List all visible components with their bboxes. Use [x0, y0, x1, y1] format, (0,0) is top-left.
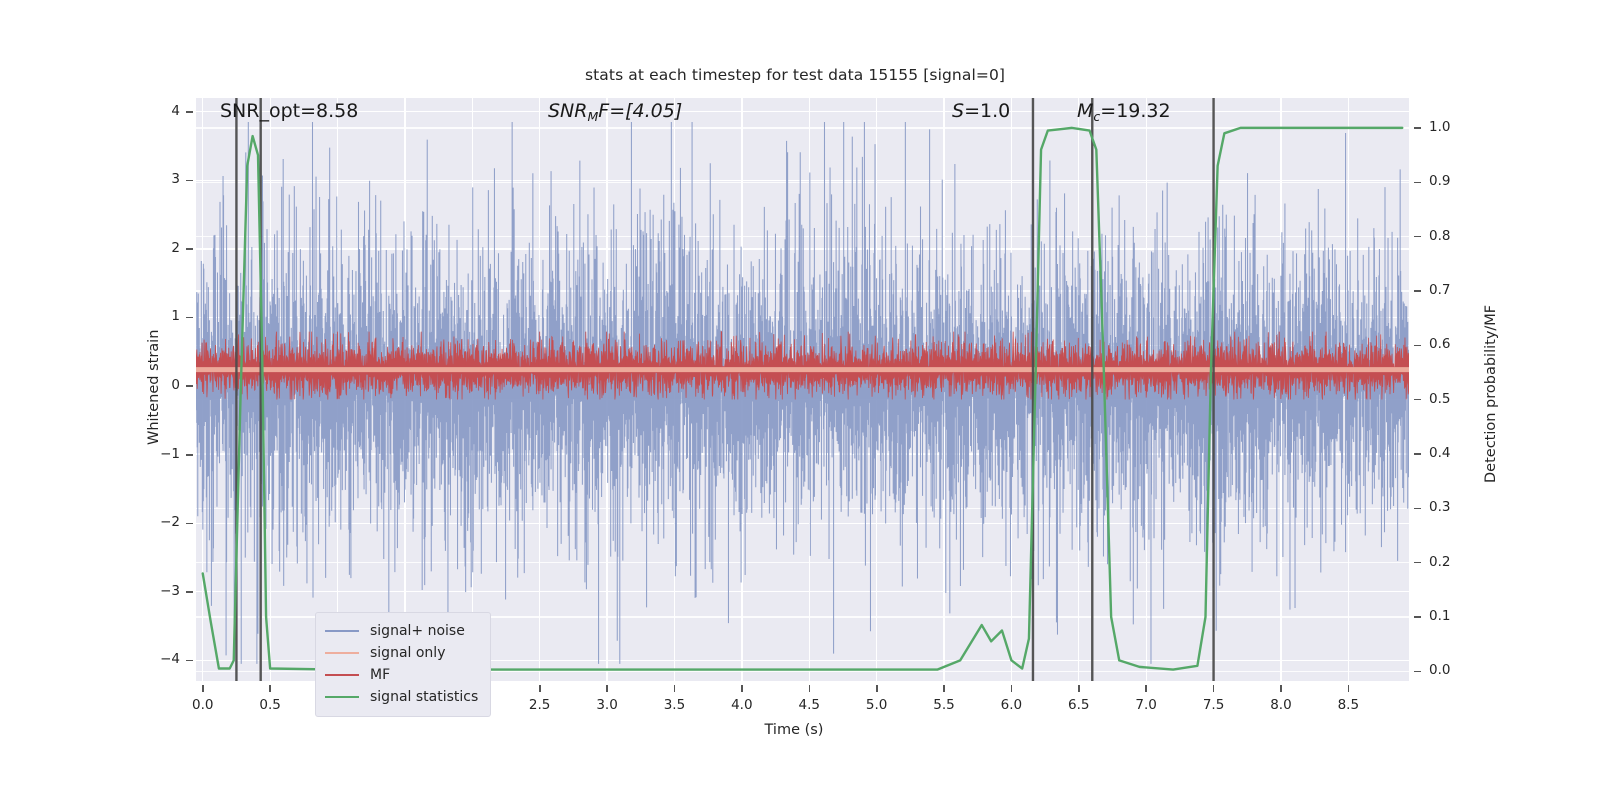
- x-tick-mark: [539, 685, 541, 692]
- y-tick-mark-left: [186, 591, 193, 593]
- y-tick-label-left: 3: [144, 171, 180, 187]
- legend-swatch-icon: [325, 630, 359, 632]
- plot-area: [196, 98, 1409, 681]
- x-tick-label: 6.0: [997, 697, 1025, 713]
- annotation-snr-mf-sub: M: [587, 109, 598, 124]
- x-tick-mark: [876, 685, 878, 692]
- y-tick-label-right: 0.8: [1429, 228, 1450, 244]
- y-tick-label-right: 0.4: [1429, 445, 1450, 461]
- legend-item[interactable]: signal+ noise: [325, 620, 481, 642]
- x-tick-mark: [202, 685, 204, 692]
- legend: signal+ noisesignal onlyMFsignal statist…: [315, 612, 491, 717]
- y-tick-label-right: 0.6: [1429, 336, 1450, 352]
- annotation-s-number: =1.0: [964, 100, 1010, 122]
- figure-canvas: stats at each timestep for test data 151…: [0, 0, 1600, 800]
- x-axis-label: Time (s): [765, 722, 824, 738]
- legend-swatch-icon: [325, 674, 359, 676]
- legend-item[interactable]: MF: [325, 664, 481, 686]
- x-tick-mark: [1213, 685, 1215, 692]
- annotation-mc-sub: c: [1093, 109, 1100, 124]
- y-tick-mark-left: [186, 317, 193, 319]
- y-tick-mark-right: [1414, 671, 1421, 673]
- x-tick-label: 3.5: [660, 697, 688, 713]
- x-tick-mark: [943, 685, 945, 692]
- y-tick-label-right: 0.7: [1429, 282, 1450, 298]
- x-tick-mark: [1348, 685, 1350, 692]
- x-tick-mark: [1145, 685, 1147, 692]
- legend-item-label: signal statistics: [370, 689, 478, 705]
- y-tick-mark-right: [1414, 127, 1421, 129]
- x-tick-label: 7.5: [1200, 697, 1228, 713]
- x-tick-label: 8.0: [1267, 697, 1295, 713]
- y-tick-label-right: 0.9: [1429, 173, 1450, 189]
- y-axis-right-label: Detection probability/MF: [1483, 304, 1499, 482]
- x-tick-label: 2.5: [526, 697, 554, 713]
- y-tick-label-left: −1: [144, 446, 180, 462]
- x-tick-mark: [269, 685, 271, 692]
- y-tick-label-left: 1: [144, 308, 180, 324]
- x-tick-mark: [741, 685, 743, 692]
- y-tick-mark-right: [1414, 616, 1421, 618]
- annotation-mc-number: =19.32: [1100, 100, 1170, 122]
- x-tick-mark: [606, 685, 608, 692]
- legend-item-label: signal only: [370, 645, 445, 661]
- legend-swatch-icon: [325, 696, 359, 698]
- legend-item-label: signal+ noise: [370, 623, 465, 639]
- y-tick-mark-right: [1414, 236, 1421, 238]
- x-tick-mark: [1011, 685, 1013, 692]
- y-tick-mark-left: [186, 454, 193, 456]
- y-tick-label-left: −3: [144, 583, 180, 599]
- y-tick-label-left: 2: [144, 240, 180, 256]
- annotation-chirp-mass: Mc=19.32: [1077, 102, 1171, 121]
- y-tick-label-left: 4: [144, 103, 180, 119]
- y-tick-label-right: 0.2: [1429, 554, 1450, 570]
- y-tick-label-right: 0.1: [1429, 608, 1450, 624]
- x-tick-mark: [1280, 685, 1282, 692]
- chart-title-text: stats at each timestep for test data 151…: [585, 66, 1005, 84]
- series-signal-statistics: [196, 98, 1409, 681]
- y-tick-mark-right: [1414, 290, 1421, 292]
- annotation-snr-mf: SNRMF=[4.05]: [548, 102, 682, 121]
- legend-item[interactable]: signal only: [325, 642, 481, 664]
- y-tick-mark-right: [1414, 399, 1421, 401]
- x-tick-label: 0.5: [256, 697, 284, 713]
- x-tick-label: 4.0: [728, 697, 756, 713]
- x-tick-mark: [674, 685, 676, 692]
- y-tick-mark-right: [1414, 345, 1421, 347]
- annotation-snr-mf-suffix: F=[4.05]: [598, 100, 682, 122]
- x-tick-mark: [1078, 685, 1080, 692]
- x-tick-label: 8.5: [1334, 697, 1362, 713]
- y-tick-mark-right: [1414, 453, 1421, 455]
- y-axis-left-label: Whitened strain: [146, 329, 162, 444]
- y-tick-mark-right: [1414, 508, 1421, 510]
- x-tick-label: 5.5: [930, 697, 958, 713]
- annotation-s-value: S=1.0: [952, 102, 1010, 121]
- y-tick-label-right: 0.0: [1429, 662, 1450, 678]
- y-tick-mark-left: [186, 385, 193, 387]
- x-tick-label: 4.5: [795, 697, 823, 713]
- x-tick-label: 6.5: [1065, 697, 1093, 713]
- y-tick-mark-left: [186, 111, 193, 113]
- legend-item[interactable]: signal statistics: [325, 686, 481, 708]
- annotation-s-symbol: S: [952, 100, 964, 122]
- y-tick-label-right: 1.0: [1429, 119, 1450, 135]
- annotation-mc-symbol: M: [1077, 100, 1093, 122]
- y-tick-label-right: 0.3: [1429, 499, 1450, 515]
- annotation-snr-opt: SNR_opt=8.58: [220, 102, 358, 121]
- legend-item-label: MF: [370, 667, 390, 683]
- annotation-snr-mf-prefix: SNR: [548, 100, 587, 122]
- annotation-snr-opt-text: SNR_opt=8.58: [220, 100, 358, 122]
- x-tick-label: 0.0: [189, 697, 217, 713]
- legend-swatch-icon: [325, 652, 359, 654]
- y-tick-label-right: 0.5: [1429, 391, 1450, 407]
- y-tick-mark-right: [1414, 182, 1421, 184]
- y-tick-mark-left: [186, 660, 193, 662]
- x-tick-label: 5.0: [863, 697, 891, 713]
- y-tick-mark-left: [186, 248, 193, 250]
- x-tick-mark: [809, 685, 811, 692]
- y-tick-mark-right: [1414, 562, 1421, 564]
- y-tick-mark-left: [186, 180, 193, 182]
- x-tick-label: 7.0: [1132, 697, 1160, 713]
- y-tick-label-left: −2: [144, 514, 180, 530]
- y-tick-label-left: −4: [144, 651, 180, 667]
- chart-title: stats at each timestep for test data 151…: [0, 66, 1600, 84]
- y-tick-mark-left: [186, 523, 193, 525]
- x-tick-label: 3.0: [593, 697, 621, 713]
